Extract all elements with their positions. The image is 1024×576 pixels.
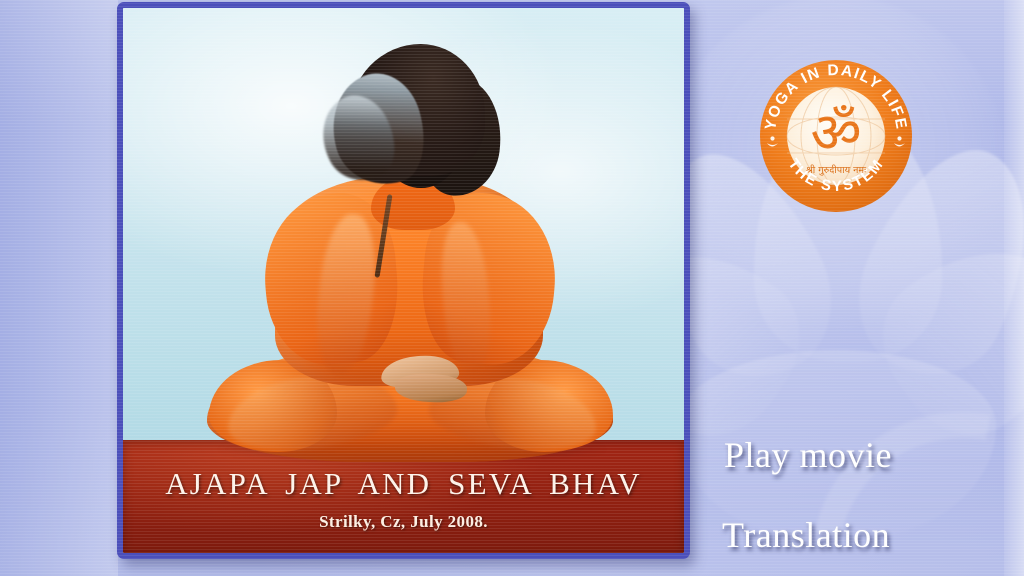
background-left-gradient	[0, 0, 118, 576]
om-symbol: ॐ	[810, 101, 861, 166]
logo-sanskrit-text: श्री गुरुदीपाय नमः	[806, 164, 867, 176]
menu-item-translation[interactable]: Translation	[722, 514, 890, 556]
cover-art-panel: AJAPA JAP AND SEVA BHAV Strilky, Cz, Jul…	[117, 2, 690, 559]
menu-item-play-movie[interactable]: Play movie	[724, 434, 892, 476]
dvd-menu-screen: AJAPA JAP AND SEVA BHAV Strilky, Cz, Jul…	[0, 0, 1024, 576]
cover-title: AJAPA JAP AND SEVA BHAV	[123, 466, 684, 502]
cover-subtitle: Strilky, Cz, July 2008.	[123, 512, 684, 532]
background-right-edge-strip	[1004, 0, 1024, 576]
yoga-in-daily-life-logo: YOGA IN DAILY LIFE THE SYSTEM ॐ श्री गुर…	[757, 57, 915, 215]
